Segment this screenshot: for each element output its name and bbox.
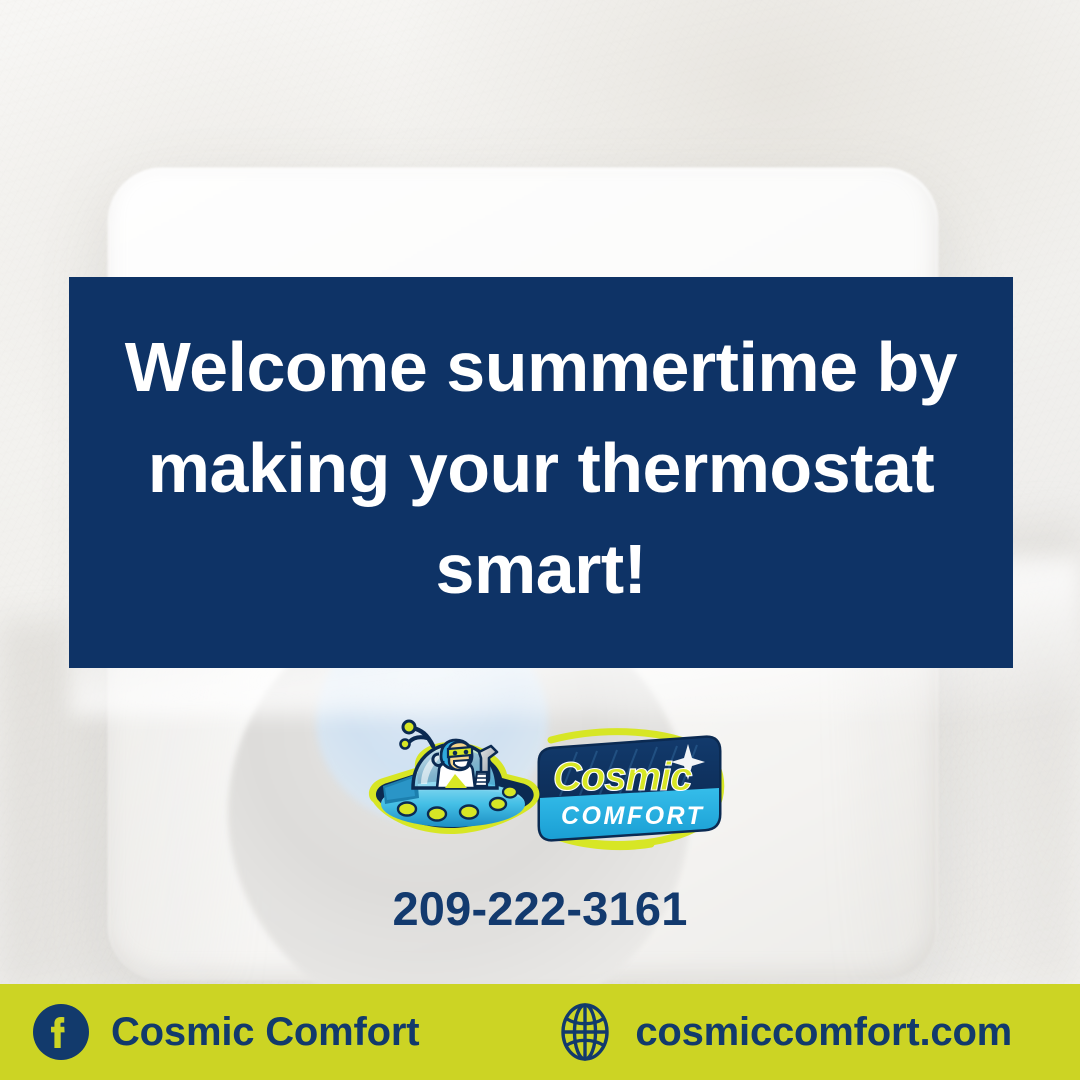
facebook-icon[interactable] [33, 1004, 89, 1060]
contact-footer-bar: Cosmic Comfort cosmiccomfort.com [0, 984, 1080, 1080]
ufo-mascot-icon [369, 721, 539, 834]
globe-icon[interactable] [557, 1002, 613, 1062]
phone-number[interactable]: 209-222-3161 [0, 881, 1080, 936]
logo-word-cosmic: Cosmic [553, 755, 692, 799]
cosmic-comfort-logo-svg: Cosmic COMFORT [355, 716, 735, 856]
facebook-page-name: Cosmic Comfort [111, 1010, 419, 1055]
logo-word-comfort: COMFORT [561, 802, 705, 830]
headline-banner: Welcome summertime by making your thermo… [69, 277, 1013, 668]
logo-badge: Cosmic COMFORT [540, 738, 719, 839]
headline-text: Welcome summertime by making your thermo… [123, 317, 959, 619]
social-post-canvas: Welcome summertime by making your thermo… [0, 0, 1080, 1080]
website-url: cosmiccomfort.com [635, 1010, 1012, 1055]
facebook-contact[interactable]: Cosmic Comfort [33, 1004, 419, 1060]
website-contact[interactable]: cosmiccomfort.com [557, 1002, 1012, 1062]
brand-logo: Cosmic COMFORT [355, 716, 735, 856]
